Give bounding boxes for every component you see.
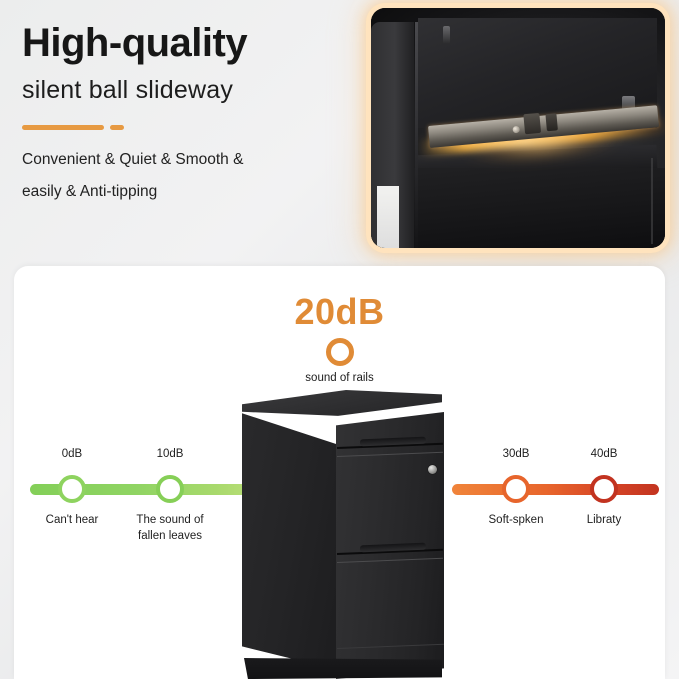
accent-divider [22, 125, 358, 130]
scale-caption-30db-line1: Soft-spken [456, 513, 576, 529]
callout-ring-marker [326, 338, 354, 366]
page-subtitle: silent ball slideway [22, 74, 358, 107]
rail-tab-1 [523, 113, 541, 134]
rail-clip-top-icon [443, 26, 450, 44]
scale-node-0db [58, 475, 86, 503]
scale-caption-40db: Libraty [544, 513, 664, 529]
cabinet-right-seam [651, 158, 653, 244]
feature-line-1: Convenient & Quiet & Smooth & [22, 144, 358, 177]
callout-value: 20dB [14, 294, 665, 330]
scale-caption-0db: Can't hear [14, 513, 132, 529]
infographic-page: High-quality silent ball slideway Conven… [0, 0, 679, 679]
scale-node-40db [590, 475, 618, 503]
file-cabinet-image [236, 390, 452, 679]
cabinet-lock-icon [428, 465, 437, 474]
scale-value-0db: 0dB [27, 448, 117, 460]
scale-caption-0db-line1: Can't hear [14, 513, 132, 529]
divider-bar-short [110, 125, 124, 130]
scale-value-10db: 10dB [125, 448, 215, 460]
cabinet-door-seam [415, 22, 418, 248]
scale-node-30db [502, 475, 530, 503]
feature-bullets: Convenient & Quiet & Smooth & easily & A… [22, 144, 358, 209]
scale-caption-10db-line2: fallen leaves [110, 529, 230, 545]
scale-bar-loud [452, 484, 659, 495]
cabinet-lower-body [395, 168, 665, 248]
scale-caption-30db: Soft-spken [456, 513, 576, 529]
callout-caption: sound of rails [14, 372, 665, 384]
page-title: High-quality [22, 18, 358, 68]
scale-value-30db: 30dB [471, 448, 561, 460]
cabinet-side-panel [242, 408, 338, 670]
slide-rail-photo [371, 8, 665, 248]
cabinet-base [244, 658, 442, 679]
noise-scale-card: 20dB sound of rails 0dB 10dB 30dB 40dB C… [14, 266, 665, 679]
hero-text-block: High-quality silent ball slideway Conven… [22, 18, 358, 209]
scale-caption-10db-line1: The sound of [110, 513, 230, 529]
rail-tab-2 [545, 113, 557, 131]
photo-left-highlight [377, 186, 399, 248]
scale-caption-40db-line1: Libraty [544, 513, 664, 529]
scale-bar-quiet [30, 484, 262, 495]
rail-screw-icon [512, 126, 520, 134]
divider-bar-long [22, 125, 104, 130]
scale-node-10db [156, 475, 184, 503]
scale-value-40db: 40dB [559, 448, 649, 460]
scale-caption-10db: The sound of fallen leaves [110, 513, 230, 544]
feature-line-2: easily & Anti-tipping [22, 176, 358, 209]
rail-noise-callout: 20dB sound of rails [14, 294, 665, 384]
